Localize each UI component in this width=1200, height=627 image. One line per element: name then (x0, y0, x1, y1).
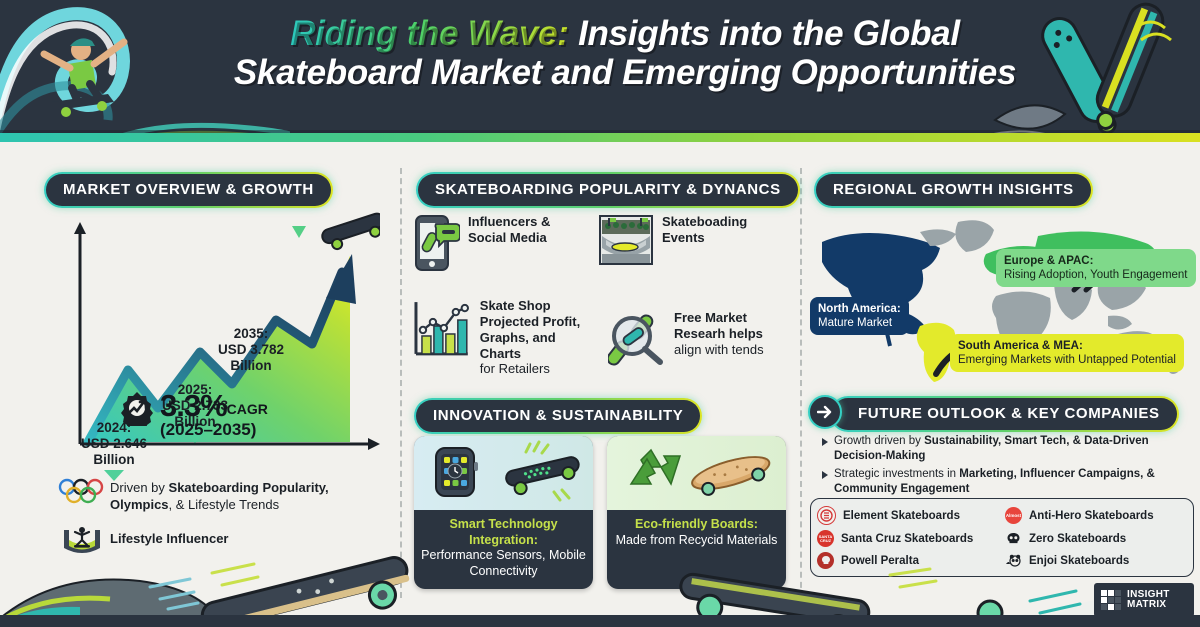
key-companies-list: Element Skateboards Almost Anti-Hero Ska… (810, 498, 1194, 577)
title-line-1: Riding the Wave: Insights into the Globa… (170, 14, 1080, 53)
popularity-item-label: Skate ShopProjected Profit,Graphs, and C… (480, 298, 600, 377)
callout-north-america: North America:Mature Market (810, 297, 909, 335)
regional-heading: REGIONAL GROWTH INSIGHTS (816, 174, 1091, 206)
company-item[interactable]: Enjoi Skateboards (1005, 552, 1187, 569)
callout-europe-apac: Europe & APAC:Rising Adoption, Youth Eng… (996, 249, 1196, 287)
bullet-triangle-icon (822, 438, 828, 446)
innovation-heading: INNOVATION & SUSTAINABILITY (416, 400, 700, 432)
arrow-right-icon (808, 395, 842, 429)
header-banner: Riding the Wave: Insights into the Globa… (0, 0, 1200, 142)
company-item[interactable]: SANTACRUZ Santa Cruz Skateboards (817, 530, 999, 547)
popularity-item-research: Free MarketResearh helpsalign with tends (608, 310, 794, 366)
popularity-heading: SKATEBOARDING POPULARITY & DYNANCS (418, 174, 798, 206)
santacruz-logo-icon: SANTACRUZ (817, 530, 834, 547)
insight-matrix-logo: INSIGHTMATRIX (1094, 583, 1194, 617)
cagr-period: (2025–2035) (160, 420, 268, 440)
innovation-card-text: Smart Technology Integration: Performanc… (414, 510, 593, 589)
powell-logo-icon (817, 552, 834, 569)
page-title: Riding the Wave: Insights into the Globa… (170, 14, 1080, 92)
innovation-heading-wrap: INNOVATION & SUSTAINABILITY (414, 398, 702, 434)
magnifier-icon (608, 310, 666, 366)
popularity-heading-wrap: SKATEBOARDING POPULARITY & DYNANCS (416, 172, 800, 208)
footer-bar (0, 615, 1200, 627)
innovation-card-smart-tech[interactable]: Smart Technology Integration: Performanc… (414, 436, 593, 589)
regional-heading-wrap: REGIONAL GROWTH INSIGHTS (814, 172, 1093, 208)
skateboards-illustration (985, 0, 1200, 142)
company-item[interactable]: Element Skateboards (817, 506, 999, 525)
popularity-item-label: Free MarketResearh helpsalign with tends (674, 310, 764, 358)
popularity-item-label: Influencers &Social Media (468, 214, 550, 246)
enjoi-panda-icon (1005, 552, 1022, 569)
cagr-value: 3.3% (160, 388, 227, 423)
market-overview-heading: MARKET OVERVIEW & GROWTH (46, 174, 331, 206)
chart-label-2035: 2035: USD 3.782 Billion (196, 326, 306, 374)
future-bullets: Growth driven by Sustainability, Smart T… (822, 434, 1192, 500)
gear-growth-icon (118, 390, 156, 426)
cagr-label: CAGR (227, 401, 268, 417)
company-item[interactable]: Zero Skateboards (1005, 530, 1187, 547)
phone-social-icon (414, 214, 460, 272)
callout-south-america-mea: South America & MEA:Emerging Markets wit… (950, 334, 1184, 372)
zero-skull-icon (1005, 530, 1022, 547)
title-accent: Riding the Wave: (290, 14, 568, 53)
smartwatch-skateboard-icon (414, 436, 593, 510)
popularity-item-events: SkateboadingEvents (598, 214, 788, 266)
popularity-column: SKATEBOARDING POPULARITY & DYNANCS Influ… (400, 150, 800, 627)
recycle-longboard-icon (607, 436, 786, 510)
market-drivers-text: Driven by Skateboarding Popularity, Olym… (110, 480, 385, 514)
popularity-item-skate-shop: Skate ShopProjected Profit,Graphs, and C… (410, 298, 600, 377)
logo-text: INSIGHTMATRIX (1127, 590, 1170, 610)
bullet-triangle-icon (822, 471, 828, 479)
future-bullet: Growth driven by Sustainability, Smart T… (822, 434, 1192, 464)
cagr-block: 3.3%CAGR (2025–2035) (160, 388, 268, 440)
company-item[interactable]: Powell Peralta (817, 552, 999, 569)
market-overview-heading-wrap: MARKET OVERVIEW & GROWTH (44, 172, 333, 208)
popularity-item-influencers: Influencers &Social Media (414, 214, 594, 272)
infographic-root: Riding the Wave: Insights into the Globa… (0, 0, 1200, 627)
regional-column: REGIONAL GROWTH INSIGHTS (800, 150, 1200, 627)
innovation-card-eco[interactable]: Eco-friendly Boards: Made from Recycid M… (607, 436, 786, 589)
halfpipe-skater-icon (62, 522, 102, 556)
bar-chart-icon (410, 298, 472, 360)
innovation-cards: Smart Technology Integration: Performanc… (414, 436, 786, 589)
header-gradient-strip (0, 133, 1200, 142)
olympic-rings-icon (58, 478, 104, 504)
title-line-2: Skateboard Market and Emerging Opportuni… (170, 53, 1080, 92)
popularity-item-label: SkateboadingEvents (662, 214, 747, 246)
element-logo-icon (817, 506, 836, 525)
antihero-logo-icon: Almost (1005, 507, 1022, 524)
company-item[interactable]: Almost Anti-Hero Skateboards (1005, 506, 1187, 525)
future-heading: FUTURE OUTLOOK & KEY COMPANIES (832, 398, 1177, 430)
skatepark-event-icon (598, 214, 654, 266)
market-overview-column: MARKET OVERVIEW & GROWTH (0, 150, 400, 627)
future-heading-wrap: FUTURE OUTLOOK & KEY COMPANIES (830, 396, 1179, 432)
innovation-card-text: Eco-friendly Boards: Made from Recycid M… (607, 510, 786, 557)
lifestyle-influencer-text: Lifestyle Influencer (110, 531, 228, 546)
future-bullet: Strategic investments in Marketing, Infl… (822, 467, 1192, 497)
title-rest: Insights into the Global (569, 14, 960, 53)
matrix-grid-icon (1100, 589, 1122, 611)
